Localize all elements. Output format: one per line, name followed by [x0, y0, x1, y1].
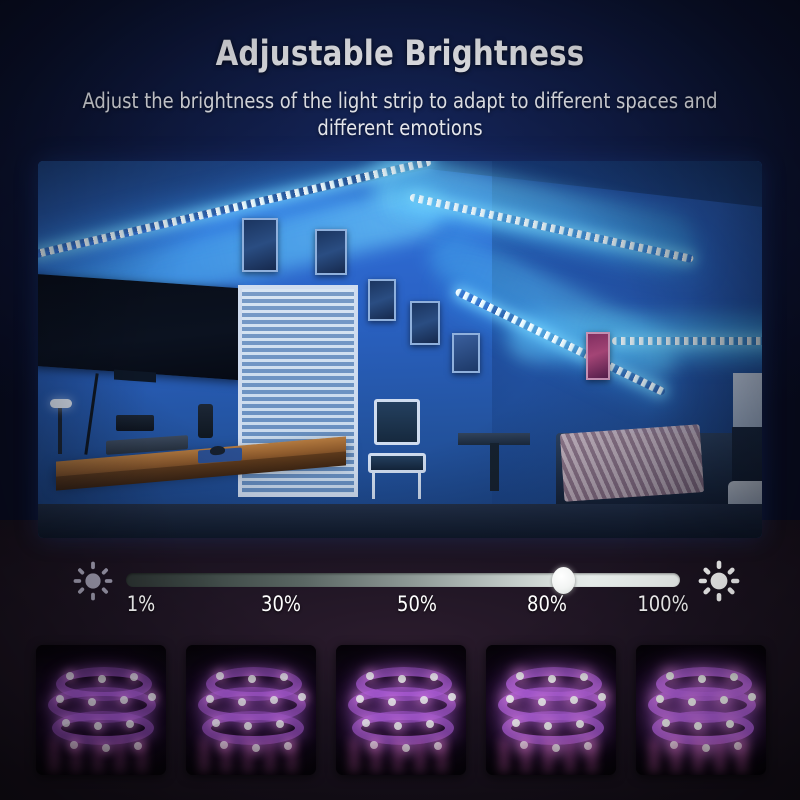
slider-tick-80: 80% — [527, 592, 567, 616]
patterned-blanket — [560, 424, 704, 502]
chair-back — [374, 399, 420, 445]
chair-leg — [418, 471, 421, 499]
slider-tick-30: 30% — [261, 592, 301, 616]
led-strip-brightness-1 — [36, 645, 166, 775]
wall-poster — [368, 279, 396, 321]
brightness-slider[interactable] — [126, 571, 680, 589]
wall-poster — [242, 218, 278, 272]
thumbnail-shading — [636, 645, 766, 775]
led-strip-segment-right — [612, 337, 762, 345]
page-title: Adjustable Brightness — [28, 34, 772, 74]
thumbnail-shading — [186, 645, 316, 775]
wall-poster — [452, 333, 480, 373]
led-strip-brightness-80 — [486, 645, 616, 775]
slider-tick-labels: 1%30%50%80%100% — [60, 592, 750, 618]
slider-tick-100: 100% — [637, 592, 688, 616]
chair-seat — [368, 453, 426, 473]
product-feature-banner: Adjustable Brightness Adjust the brightn… — [0, 0, 800, 800]
room-floor — [38, 504, 762, 538]
chair-leg — [372, 471, 375, 499]
wall-poster — [586, 332, 610, 380]
led-strip-brightness-100 — [636, 645, 766, 775]
wall-poster — [315, 229, 347, 275]
slider-track[interactable] — [126, 573, 680, 587]
desk-lamp-head — [50, 399, 72, 408]
led-strip-brightness-30 — [186, 645, 316, 775]
thumbnail-shading — [36, 645, 166, 775]
desk-device — [116, 415, 154, 431]
wall-mounted-tv — [38, 274, 242, 381]
thumbnail-shading — [486, 645, 616, 775]
desk-lamp-arm — [58, 406, 62, 454]
thumbnail-shading — [336, 645, 466, 775]
desk-speaker — [198, 404, 213, 438]
led-strip-brightness-50 — [336, 645, 466, 775]
side-table-leg — [490, 443, 499, 491]
wall-poster — [410, 301, 440, 345]
slider-tick-50: 50% — [397, 592, 437, 616]
slider-tick-1: 1% — [127, 592, 155, 616]
page-subtitle: Adjust the brightness of the light strip… — [77, 88, 723, 142]
slider-thumb[interactable] — [552, 567, 575, 594]
hero-room-photo — [38, 161, 762, 538]
desk-chair — [368, 399, 426, 499]
brightness-sample-thumbnails — [36, 645, 766, 775]
